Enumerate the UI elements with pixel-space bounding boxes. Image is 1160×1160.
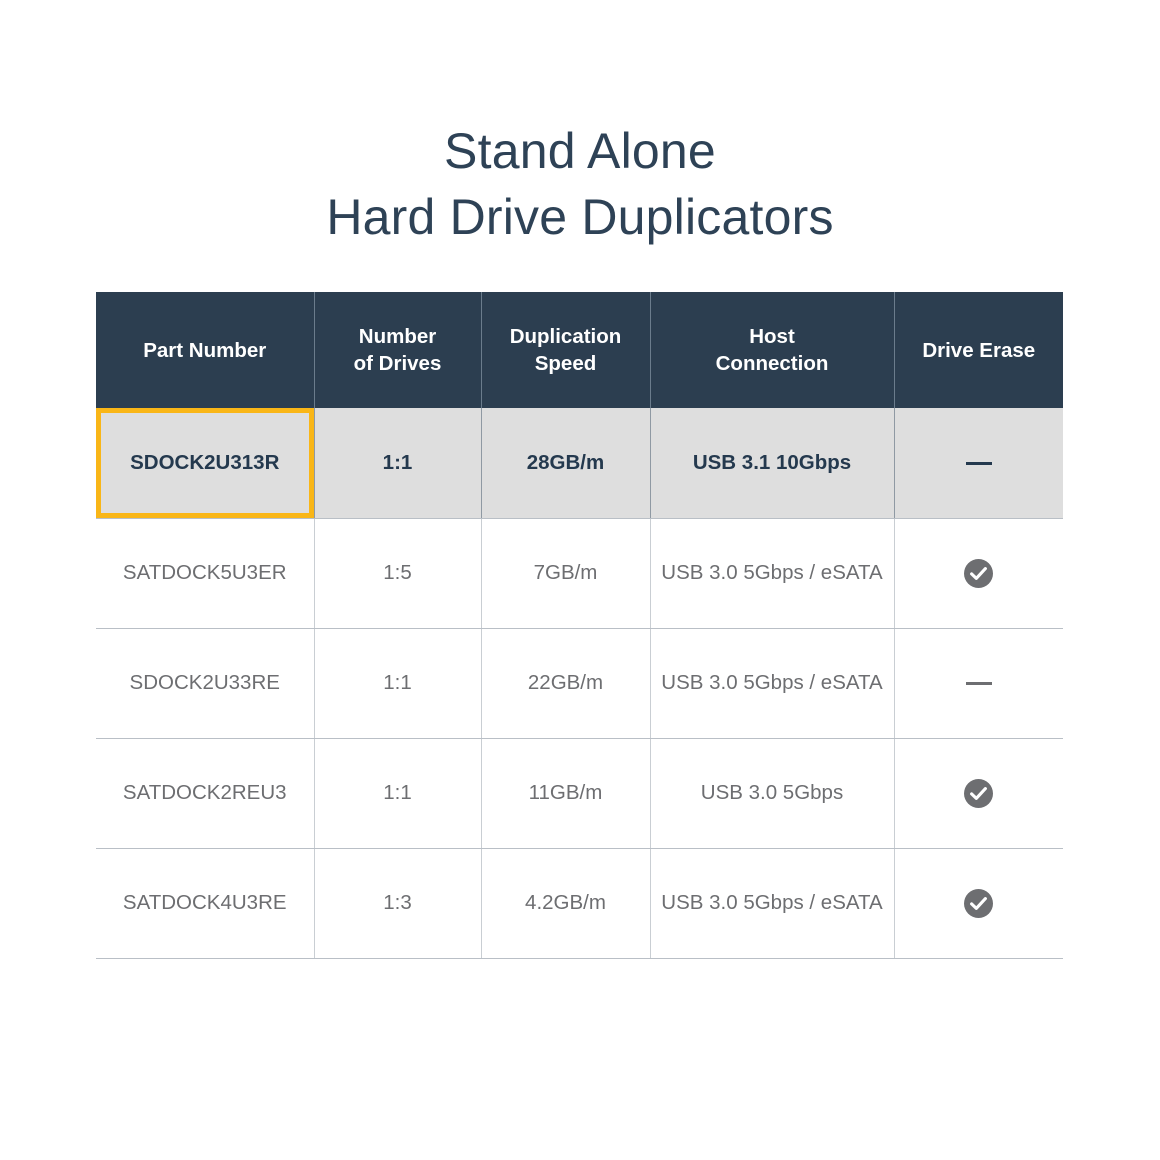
cell-duplication-speed: 4.2GB/m <box>481 848 650 958</box>
cell-number-of-drives: 1:1 <box>314 628 481 738</box>
cell-part-number: SATDOCK2REU3 <box>96 738 314 848</box>
cell-drive-erase <box>894 408 1063 518</box>
dash-icon <box>966 462 992 465</box>
page-title-line-1: Stand Alone <box>0 118 1160 184</box>
cell-part-number-text: SDOCK2U313R <box>130 451 279 475</box>
column-header-part-number: Part Number <box>96 292 314 408</box>
dash-icon <box>966 682 992 685</box>
cell-host-connection: USB 3.1 10Gbps <box>650 408 894 518</box>
table-header: Part Number Number of Drives Duplication… <box>96 292 1063 408</box>
cell-host-connection: USB 3.0 5Gbps / eSATA <box>650 848 894 958</box>
column-header-host-connection-line2: Connection <box>716 352 829 375</box>
cell-number-of-drives: 1:1 <box>314 408 481 518</box>
column-header-part-number-line1: Part Number <box>143 339 266 362</box>
cell-number-of-drives: 1:1 <box>314 738 481 848</box>
cell-host-connection: USB 3.0 5Gbps <box>650 738 894 848</box>
cell-part-number: SATDOCK4U3RE <box>96 848 314 958</box>
column-header-drive-erase: Drive Erase <box>894 292 1063 408</box>
spec-table-container: Part Number Number of Drives Duplication… <box>96 292 1063 959</box>
cell-duplication-speed: 22GB/m <box>481 628 650 738</box>
table-header-row: Part Number Number of Drives Duplication… <box>96 292 1063 408</box>
table-row: SDOCK2U313R 1:1 28GB/m USB 3.1 10Gbps <box>96 408 1063 518</box>
column-header-drive-erase-line1: Drive Erase <box>922 339 1035 362</box>
page-root: Stand Alone Hard Drive Duplicators Part … <box>0 0 1160 1160</box>
cell-number-of-drives: 1:5 <box>314 518 481 628</box>
column-header-number-of-drives: Number of Drives <box>314 292 481 408</box>
cell-host-connection: USB 3.0 5Gbps / eSATA <box>650 628 894 738</box>
column-header-number-of-drives-line2: of Drives <box>354 352 442 375</box>
cell-host-connection: USB 3.0 5Gbps / eSATA <box>650 518 894 628</box>
cell-drive-erase <box>894 848 1063 958</box>
column-header-host-connection-line1: Host <box>749 325 795 348</box>
page-title-line-2: Hard Drive Duplicators <box>0 184 1160 250</box>
column-header-host-connection: Host Connection <box>650 292 894 408</box>
cell-part-number: SDOCK2U313R <box>96 408 314 518</box>
cell-number-of-drives: 1:3 <box>314 848 481 958</box>
spec-table: Part Number Number of Drives Duplication… <box>96 292 1063 959</box>
page-title: Stand Alone Hard Drive Duplicators <box>0 118 1160 250</box>
cell-duplication-speed: 11GB/m <box>481 738 650 848</box>
table-row: SATDOCK5U3ER 1:5 7GB/m USB 3.0 5Gbps / e… <box>96 518 1063 628</box>
check-circle-icon <box>964 559 993 588</box>
cell-duplication-speed: 28GB/m <box>481 408 650 518</box>
table-row: SATDOCK2REU3 1:1 11GB/m USB 3.0 5Gbps <box>96 738 1063 848</box>
check-circle-icon <box>964 889 993 918</box>
column-header-duplication-speed-line2: Speed <box>535 352 597 375</box>
cell-part-number: SATDOCK5U3ER <box>96 518 314 628</box>
cell-drive-erase <box>894 518 1063 628</box>
table-row: SATDOCK4U3RE 1:3 4.2GB/m USB 3.0 5Gbps /… <box>96 848 1063 958</box>
cell-part-number: SDOCK2U33RE <box>96 628 314 738</box>
cell-drive-erase <box>894 738 1063 848</box>
cell-drive-erase <box>894 628 1063 738</box>
column-header-duplication-speed-line1: Duplication <box>510 325 622 348</box>
table-body: SDOCK2U313R 1:1 28GB/m USB 3.1 10Gbps SA… <box>96 408 1063 958</box>
cell-duplication-speed: 7GB/m <box>481 518 650 628</box>
table-row: SDOCK2U33RE 1:1 22GB/m USB 3.0 5Gbps / e… <box>96 628 1063 738</box>
column-header-number-of-drives-line1: Number <box>359 325 436 348</box>
check-circle-icon <box>964 779 993 808</box>
highlight-frame: SDOCK2U313R <box>96 408 314 518</box>
column-header-duplication-speed: Duplication Speed <box>481 292 650 408</box>
